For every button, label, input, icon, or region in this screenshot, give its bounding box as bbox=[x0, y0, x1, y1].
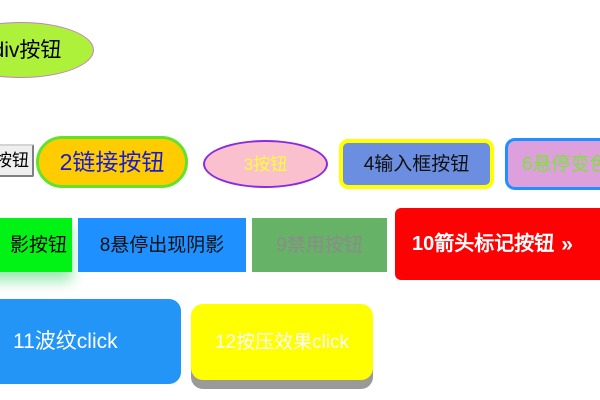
hover-shadow-button-label: 8悬停出现阴影 bbox=[100, 236, 225, 255]
hover-color-button-label: 6悬停变色 bbox=[522, 155, 600, 174]
link-button[interactable]: 2链接按钮 bbox=[36, 136, 188, 188]
disabled-button-label: 9禁用按钮 bbox=[276, 236, 363, 255]
shadow-button-label: 影按钮 bbox=[10, 236, 67, 255]
hover-color-button[interactable]: 6悬停变色 bbox=[505, 138, 600, 190]
div-button-label: div按钮 bbox=[0, 40, 61, 61]
input-button-label: 4输入框按钮 bbox=[364, 155, 470, 174]
native-button[interactable]: 按钮 bbox=[0, 144, 34, 177]
hover-shadow-button[interactable]: 8悬停出现阴影 bbox=[78, 218, 246, 272]
ripple-button[interactable]: 11波纹click bbox=[0, 299, 181, 384]
ellipse-button[interactable]: 3按钮 bbox=[203, 140, 328, 188]
arrow-marker-button[interactable]: 10箭头标记按钮 » bbox=[395, 208, 600, 280]
native-button-label: 按钮 bbox=[0, 152, 29, 169]
div-button[interactable]: div按钮 bbox=[0, 22, 94, 78]
double-chevron-right-icon: » bbox=[561, 234, 573, 255]
ripple-button-label: 11波纹click bbox=[13, 331, 118, 352]
button-demo-stage: div按钮 按钮 2链接按钮 3按钮 4输入框按钮 6悬停变色 影按钮 8悬停出… bbox=[0, 0, 600, 400]
press-effect-button-label: 12按压效果click bbox=[215, 333, 349, 352]
ellipse-button-label: 3按钮 bbox=[244, 156, 287, 173]
shadow-button[interactable]: 影按钮 bbox=[0, 218, 72, 272]
press-effect-button[interactable]: 12按压效果click bbox=[191, 304, 373, 380]
input-button[interactable]: 4输入框按钮 bbox=[339, 139, 494, 189]
link-button-label: 2链接按钮 bbox=[60, 151, 165, 174]
arrow-marker-button-label: 10箭头标记按钮 bbox=[412, 234, 554, 254]
disabled-button: 9禁用按钮 bbox=[252, 218, 387, 272]
